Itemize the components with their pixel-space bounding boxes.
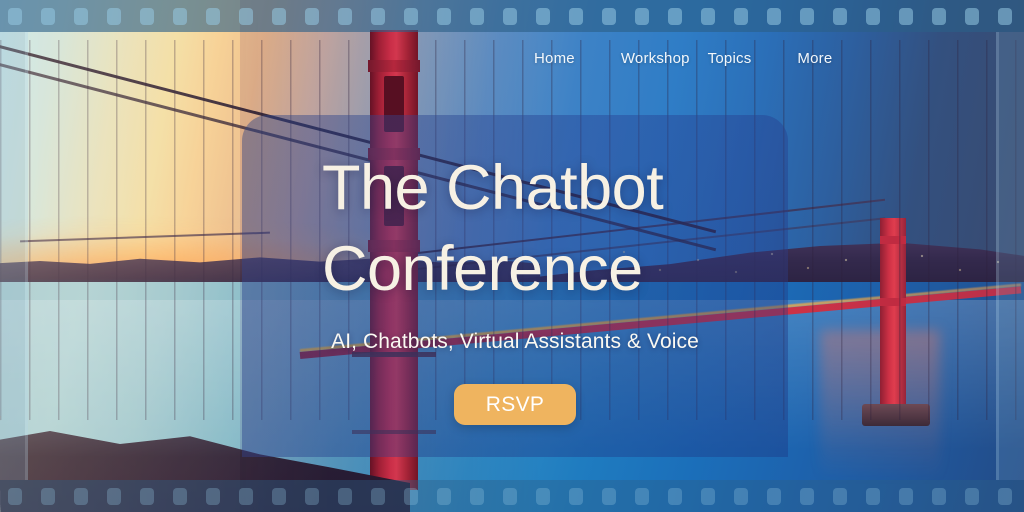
- nav-item-topics[interactable]: Topics: [708, 50, 752, 67]
- nav-item-more[interactable]: More: [797, 50, 832, 67]
- rsvp-button[interactable]: RSVP: [454, 384, 576, 425]
- hero-subtitle: AI, Chatbots, Virtual Assistants & Voice: [242, 330, 788, 354]
- nav-item-home[interactable]: Home: [534, 50, 575, 67]
- hero-banner-screen: Home Workshop Topics More The Chatbot Co…: [0, 0, 1024, 512]
- main-navigation: Home Workshop Topics More: [0, 50, 1024, 67]
- hero-content: The Chatbot Conference AI, Chatbots, Vir…: [242, 115, 788, 425]
- nav-item-workshop[interactable]: Workshop: [621, 50, 690, 67]
- cta-row: RSVP: [242, 384, 788, 425]
- hero-title: The Chatbot Conference: [242, 148, 788, 310]
